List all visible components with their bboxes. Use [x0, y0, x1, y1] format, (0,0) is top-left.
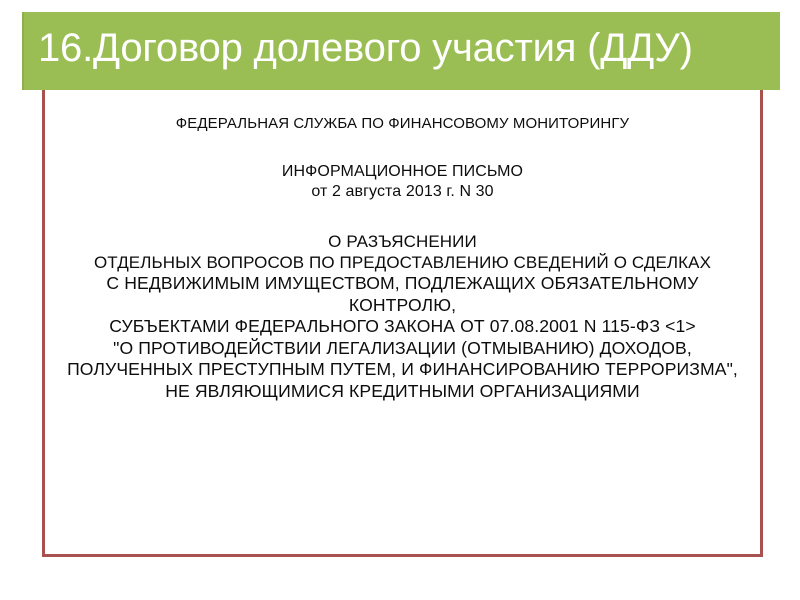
document-body: ФЕДЕРАЛЬНАЯ СЛУЖБА ПО ФИНАНСОВОМУ МОНИТО…: [45, 90, 760, 402]
body-line-law-title-part2: ПОЛУЧЕННЫХ ПРЕСТУПНЫМ ПУТЕМ, И ФИНАНСИРО…: [53, 359, 752, 381]
body-line-realestate: С НЕДВИЖИМЫМ ИМУЩЕСТВОМ, ПОДЛЕЖАЩИХ ОБЯЗ…: [53, 273, 752, 316]
slide-canvas: ФЕДЕРАЛЬНАЯ СЛУЖБА ПО ФИНАНСОВОМУ МОНИТО…: [0, 0, 800, 600]
body-line-date-number: от 2 августа 2013 г. N 30: [53, 182, 752, 202]
body-line-doctype: ИНФОРМАЦИОННОЕ ПИСЬМО: [53, 162, 752, 182]
page-title: 16.Договор долевого участия (ДДУ): [24, 26, 780, 76]
title-banner: 16.Договор долевого участия (ДДУ): [22, 12, 780, 90]
body-line-subject-detail: ОТДЕЛЬНЫХ ВОПРОСОВ ПО ПРЕДОСТАВЛЕНИЮ СВЕ…: [53, 252, 752, 273]
body-line-agency: ФЕДЕРАЛЬНАЯ СЛУЖБА ПО ФИНАНСОВОМУ МОНИТО…: [53, 114, 752, 133]
body-line-subject: О РАЗЪЯСНЕНИИ: [53, 231, 752, 252]
content-box: ФЕДЕРАЛЬНАЯ СЛУЖБА ПО ФИНАНСОВОМУ МОНИТО…: [42, 87, 763, 557]
paragraph-gap: [53, 202, 752, 231]
body-line-non-credit-orgs: НЕ ЯВЛЯЮЩИМИСЯ КРЕДИТНЫМИ ОРГАНИЗАЦИЯМИ: [53, 381, 752, 403]
paragraph-gap: [53, 133, 752, 162]
body-line-law-reference: СУБЪЕКТАМИ ФЕДЕРАЛЬНОГО ЗАКОНА ОТ 07.08.…: [53, 316, 752, 338]
body-line-law-title-part1: "О ПРОТИВОДЕЙСТВИИ ЛЕГАЛИЗАЦИИ (ОТМЫВАНИ…: [53, 338, 752, 360]
